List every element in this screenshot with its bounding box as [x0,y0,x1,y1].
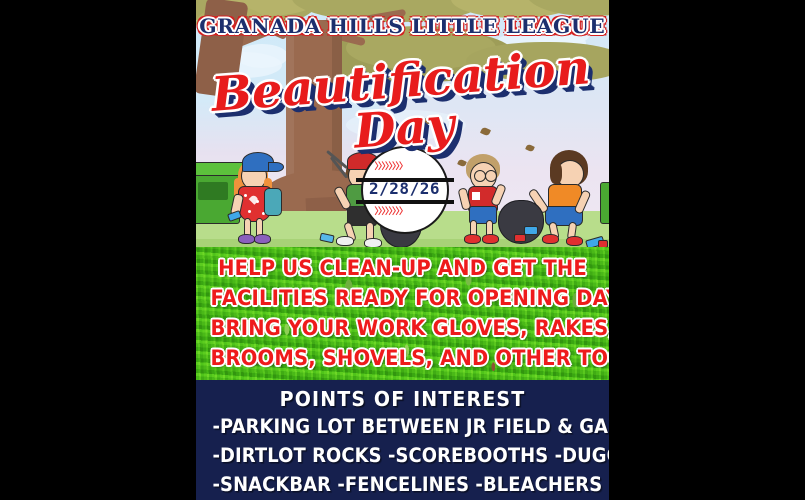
baseball-date-badge: 〉〉〉〉〉〉〉〉 2/28/26 〉〉〉〉〉〉〉〉 [361,146,449,234]
letterbox-left [0,0,196,500]
event-flyer-poster: 〉〉〉〉〉〉〉〉 2/28/26 〉〉〉〉〉〉〉〉 [196,0,609,500]
recycling-bin [600,182,609,224]
points-of-interest-band: POINTS OF INTEREST -PARKING LOT BETWEEN … [196,380,609,500]
litter-item [227,210,242,222]
litter-item [598,240,608,247]
points-of-interest-item: -PARKING LOT BETWEEN JR FIELD & GARDEN [213,412,593,441]
organization-name: GRANADA HILLS LITTLE LEAGUE [199,15,605,38]
baseball-stitching: 〉〉〉〉〉〉〉〉 [375,208,408,217]
litter-item [514,234,526,242]
organization-banner: GRANADA HILLS LITTLE LEAGUE [196,15,609,38]
shoe [364,238,382,247]
shoe [464,234,481,244]
event-title: Beautification Day [196,43,609,168]
screenshot-canvas: 〉〉〉〉〉〉〉〉 2/28/26 〉〉〉〉〉〉〉〉 [0,0,805,500]
points-of-interest-item: -DIRTLOT ROCKS -SCOREBOOTHS -DUGOUTS [213,441,593,470]
polka-dot [244,194,247,197]
shoe [482,234,499,244]
message-line: BRING YOUR WORK GLOVES, RAKES, [210,313,594,343]
event-date: 2/28/26 [363,178,447,200]
shoe [542,234,559,244]
letterbox-right [609,0,805,500]
points-of-interest-heading: POINTS OF INTEREST [206,386,598,412]
hair [550,162,562,184]
glasses-icon [485,170,497,182]
baseball-divider [356,200,454,204]
backpack [264,188,282,216]
event-title-block: Beautification Day [196,58,609,152]
shoe [566,236,583,246]
litter-item [524,226,538,235]
baseball-stitching: 〉〉〉〉〉〉〉〉 [375,163,408,172]
message-line: BROOMS, SHOVELS, AND OTHER TOOLS. [210,343,594,373]
message-grass-band: HELP US CLEAN-UP AND GET THE FACILITIES … [196,247,609,380]
message-lines: HELP US CLEAN-UP AND GET THE FACILITIES … [196,247,609,373]
polka-dot [248,210,251,213]
shoe [238,234,255,244]
message-line: FACILITIES READY FOR OPENING DAY! [210,283,594,313]
cap-brim [268,162,284,172]
shoe [254,234,271,244]
shirt-pocket [472,192,480,200]
kid-girl-orange-shirt [532,144,604,242]
message-line: HELP US CLEAN-UP AND GET THE [210,253,594,283]
points-of-interest-item: -SNACKBAR -FENCELINES -BLEACHERS [213,470,593,499]
shoe [336,236,354,246]
recycling-bin-panel [198,182,228,200]
